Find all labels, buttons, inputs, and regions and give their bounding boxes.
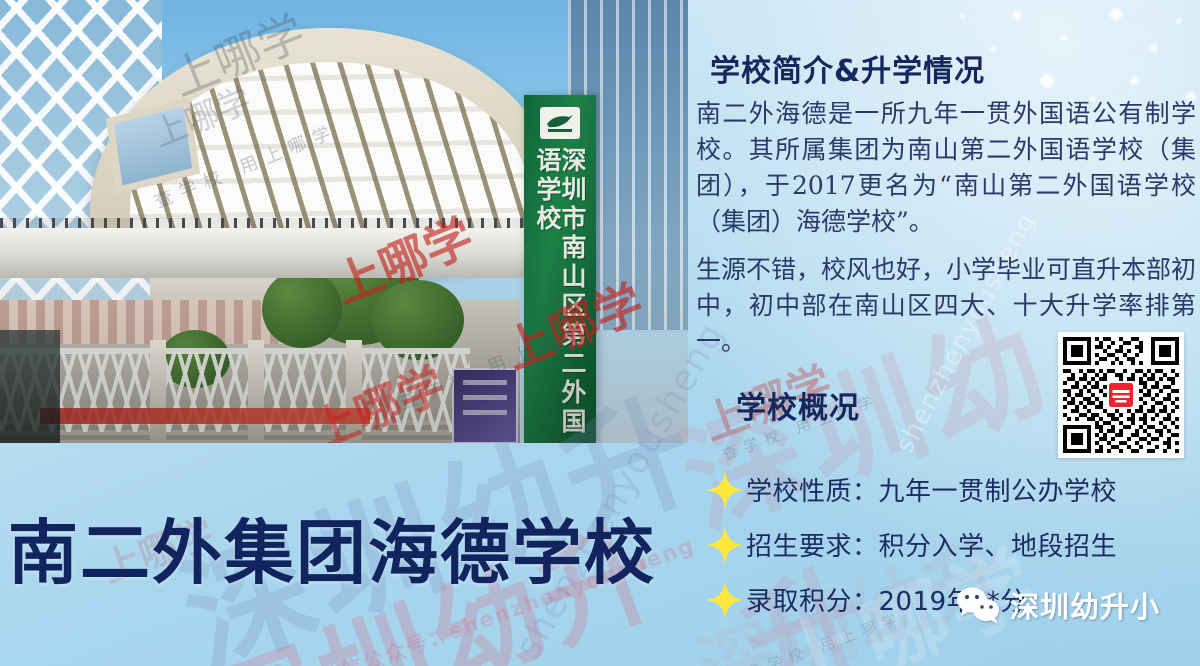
overview-heading: 学校概况 [736, 383, 860, 427]
page-title: 南二外集团海德学校 [8, 497, 656, 598]
list-item-label: 招生要求：积分入学、地段招生 [746, 526, 1117, 563]
poster-root: 深圳市南山区第二外国语学校 上哪学 上哪学 查学校 用上哪学 上哪学 上哪学 查… [0, 0, 1200, 666]
intro-paragraph-1: 南二外海德是一所九年一贯外国语公有制学校。其所属集团为南山第二外国语学校（集团）… [696, 96, 1196, 240]
list-item-label: 学校性质：九年一贯制公办学校 [746, 471, 1117, 508]
sparkle-star-icon [704, 524, 746, 566]
wechat-account-name: 深圳幼升小 [1010, 584, 1160, 626]
sparkle-star-icon [704, 579, 746, 621]
list-item: 招生要求：积分入学、地段招生 [704, 517, 1200, 572]
school-entrance-photo: 深圳市南山区第二外国语学校 上哪学 上哪学 查学校 用上哪学 上哪学 上哪学 查… [0, 0, 688, 443]
wechat-qr-code[interactable] [1058, 332, 1184, 458]
wechat-icon [955, 585, 1003, 625]
photo-vignette [0, 0, 688, 443]
wechat-badge: 深圳幼升小 [955, 584, 1160, 626]
list-item: 学校性质：九年一贯制公办学校 [704, 462, 1200, 517]
qr-code-graphic [1063, 337, 1179, 453]
sparkle-star-icon [704, 469, 746, 511]
intro-heading: 学校简介&升学情况 [710, 46, 985, 90]
